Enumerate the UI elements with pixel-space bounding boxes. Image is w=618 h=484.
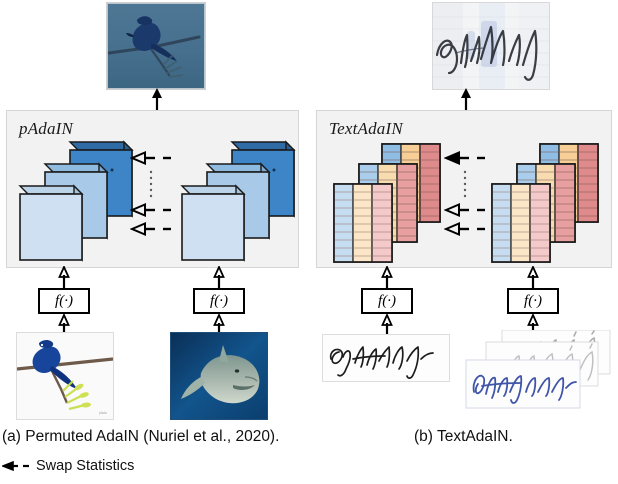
panel-title-textadain: TextAdaIN <box>329 119 403 139</box>
arrow-fbox-textadain-right-up <box>524 266 542 288</box>
handwriting-sheet-front <box>466 360 580 408</box>
shark-photo-input-image <box>170 332 268 420</box>
feature-grid-front <box>334 184 392 262</box>
feature-map-front <box>20 186 82 260</box>
vertical-ellipsis-dots <box>464 171 466 197</box>
feature-stack-textadain-right <box>488 142 606 264</box>
panel-title-padain: pAdaIN <box>19 119 73 139</box>
feature-stack-padain-left <box>14 140 134 265</box>
handwriting-input-svg <box>323 335 449 381</box>
swap-arrows-padain <box>130 148 172 238</box>
caption-b: (b) TextAdaIN. <box>414 428 513 446</box>
bird-photo-svg: photo <box>17 333 113 419</box>
svg-text:photo: photo <box>99 411 107 415</box>
handwriting-output-image <box>432 2 550 90</box>
legend-label: Swap Statistics <box>36 458 134 474</box>
handwriting-output-svg <box>433 3 549 89</box>
fbox-padain-right[interactable]: f(·) <box>193 288 245 314</box>
handwriting-input-image-stack <box>464 330 612 414</box>
bird-photo-input-image: photo <box>16 332 114 420</box>
stylized-bird-output-svg <box>107 3 205 89</box>
handwriting-stack-svg <box>464 330 612 414</box>
arrow-fbox-textadain-left-up <box>378 266 396 288</box>
figure-root: pAdaIN <box>0 0 618 484</box>
arrow-padain-to-output <box>148 88 166 110</box>
vertical-ellipsis-dots <box>150 171 152 197</box>
arrow-fbox-padain-right-up <box>210 266 228 288</box>
shark-photo-svg <box>171 333 267 419</box>
fbox-padain-left[interactable]: f(·) <box>38 288 90 314</box>
feature-map-front <box>182 186 244 260</box>
caption-a: (a) Permuted AdaIN (Nuriel et al., 2020)… <box>2 428 279 446</box>
feature-grid-front <box>492 184 550 262</box>
fbox-textadain-right[interactable]: f(·) <box>507 288 559 314</box>
handwriting-input-image <box>322 334 450 382</box>
swap-arrows-textadain <box>444 148 486 238</box>
fbox-textadain-left[interactable]: f(·) <box>361 288 413 314</box>
feature-stack-padain-right <box>176 140 296 265</box>
arrow-fbox-padain-left-up <box>55 266 73 288</box>
arrow-input-to-fbox-textadain-left <box>378 314 396 336</box>
feature-stack-textadain-left <box>330 142 448 264</box>
legend-swap-statistics: Swap Statistics <box>2 458 134 474</box>
stylized-bird-output-image <box>106 2 206 90</box>
left-dashed-arrow-icon <box>2 459 30 473</box>
arrow-textadain-to-output <box>457 88 475 110</box>
